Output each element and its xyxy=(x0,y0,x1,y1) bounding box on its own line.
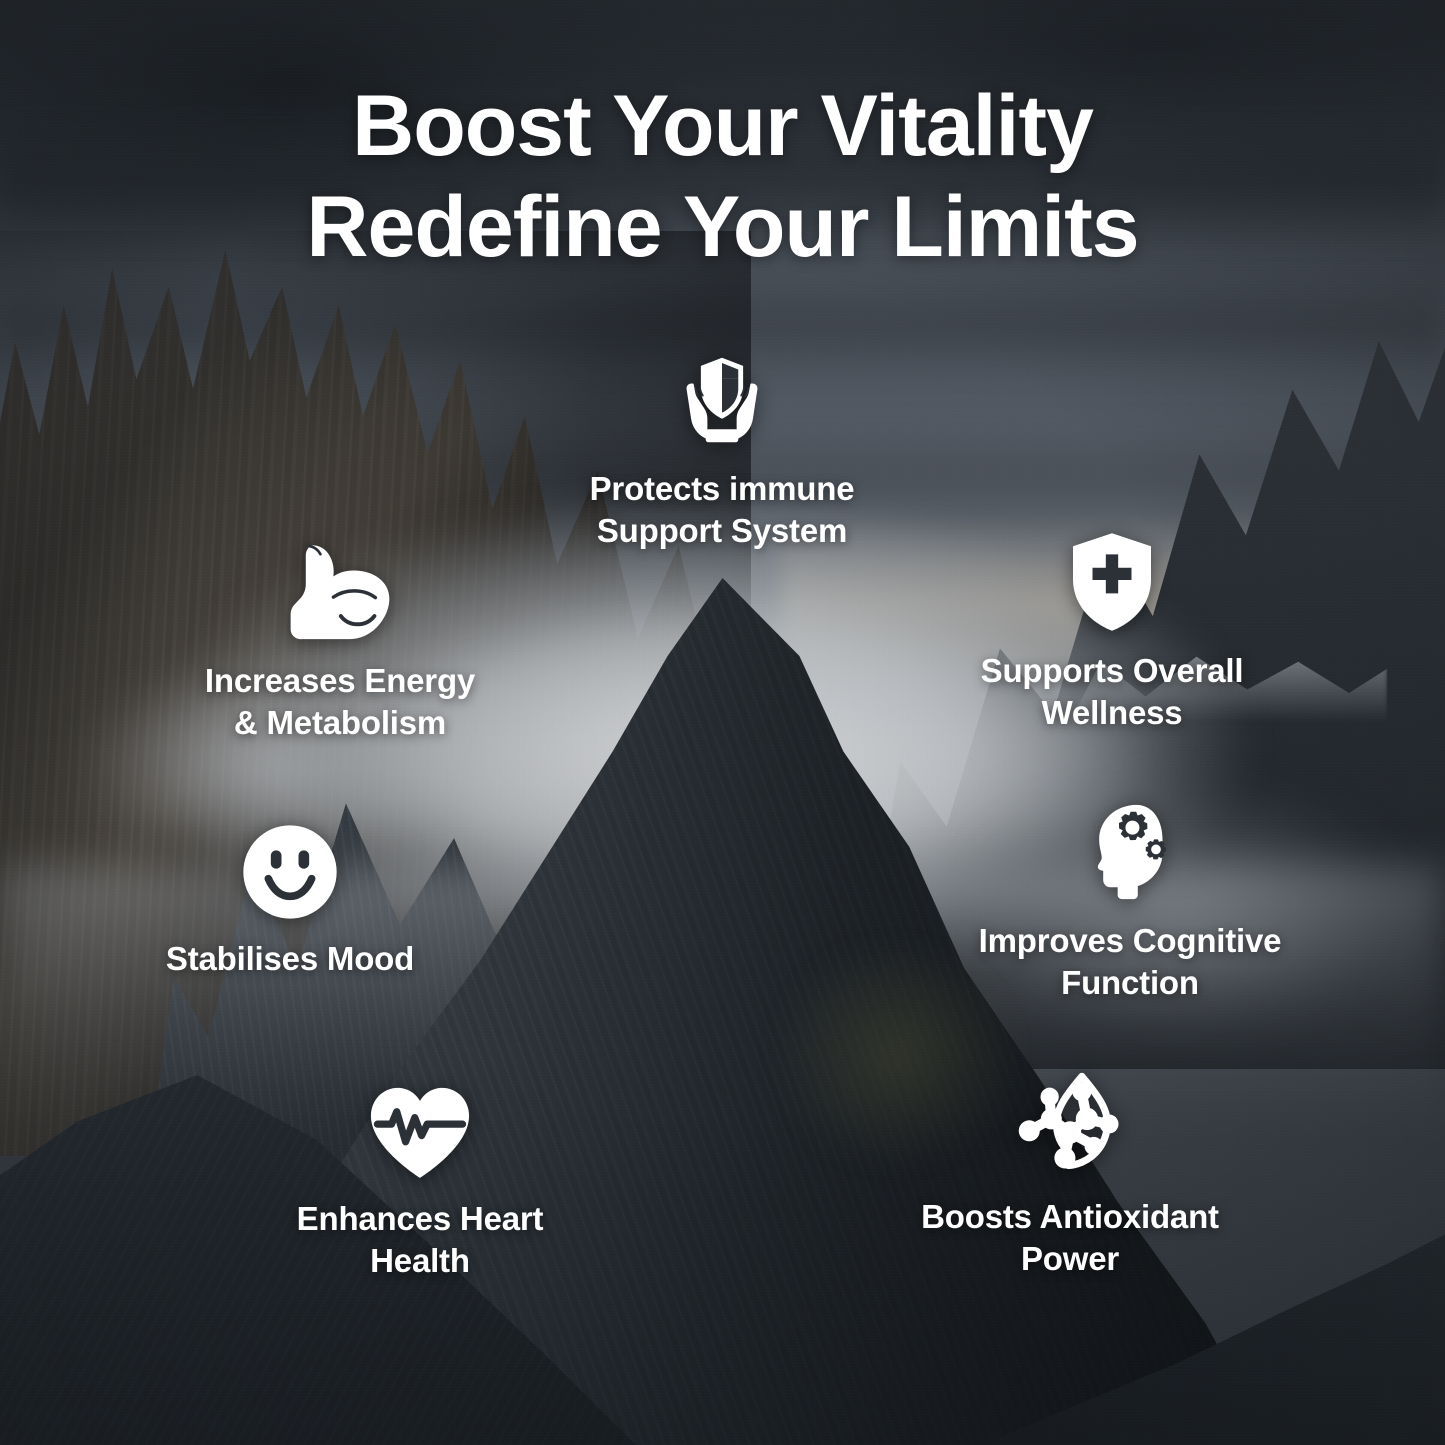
headline-line-2: Redefine Your Limits xyxy=(0,177,1445,278)
benefit-label: Increases Energy & Metabolism xyxy=(205,660,475,744)
benefit-label: Protects immune Support System xyxy=(590,468,855,552)
heart-pulse-icon xyxy=(366,1082,474,1182)
benefit-label: Supports Overall Wellness xyxy=(981,650,1244,734)
page-title: Boost Your Vitality Redefine Your Limits xyxy=(0,76,1445,279)
benefit-heart: Enhances Heart Health xyxy=(220,1082,620,1282)
molecule-droplet-icon xyxy=(1014,1068,1126,1180)
smiley-face-icon xyxy=(240,822,340,922)
benefit-label: Improves Cognitive Function xyxy=(979,920,1282,1004)
benefit-label: Stabilises Mood xyxy=(166,938,414,980)
benefit-label: Enhances Heart Health xyxy=(297,1198,544,1282)
benefit-cognitive: Improves Cognitive Function xyxy=(920,800,1340,1004)
headline-line-1: Boost Your Vitality xyxy=(352,78,1093,174)
benefit-wellness: Supports Overall Wellness xyxy=(912,530,1312,734)
benefit-antioxidant: Boosts Antioxidant Power xyxy=(860,1068,1280,1280)
benefit-immune: Protects immune Support System xyxy=(522,348,922,552)
benefit-label: Boosts Antioxidant Power xyxy=(921,1196,1219,1280)
hands-holding-shield-icon xyxy=(670,348,774,452)
benefit-mood: Stabilises Mood xyxy=(90,822,490,980)
vitality-promo-poster: Boost Your Vitality Redefine Your Limits xyxy=(0,0,1445,1445)
benefit-energy: Increases Energy & Metabolism xyxy=(140,542,540,744)
head-gears-brain-icon xyxy=(1078,800,1182,904)
poster-content: Boost Your Vitality Redefine Your Limits xyxy=(0,0,1445,1445)
flexed-bicep-icon xyxy=(284,542,396,644)
shield-plus-icon xyxy=(1064,530,1160,634)
